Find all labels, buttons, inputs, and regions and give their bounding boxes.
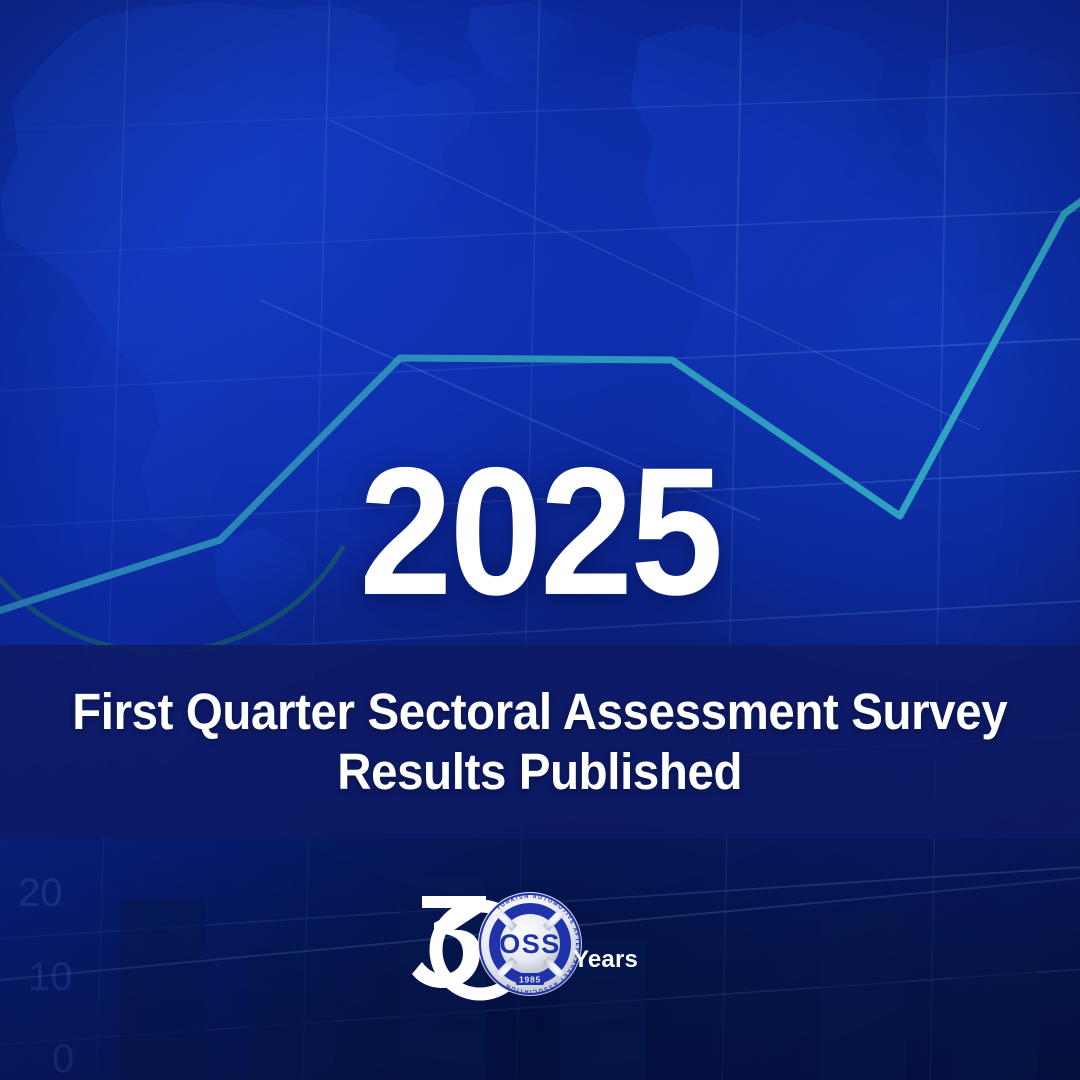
page-title: First Quarter Sectoral Assessment Survey… [59, 682, 1020, 800]
seal-year: 1985 [519, 975, 541, 985]
logo-years-label: Years [573, 946, 638, 974]
year-heading: 2025 [43, 440, 1037, 622]
headline-band: First Quarter Sectoral Assessment Survey… [0, 645, 1080, 838]
oss-anniversary-logo: TURKISH AUTOMOTIVE AFTERMARKET ASSOCIATI… [410, 878, 670, 1013]
oss-seal: TURKISH AUTOMOTIVE AFTERMARKET ASSOCIATI… [478, 892, 582, 996]
poster-canvas: 20 10 0 [0, 0, 1080, 1080]
seal-acronym: OSS [499, 929, 561, 959]
